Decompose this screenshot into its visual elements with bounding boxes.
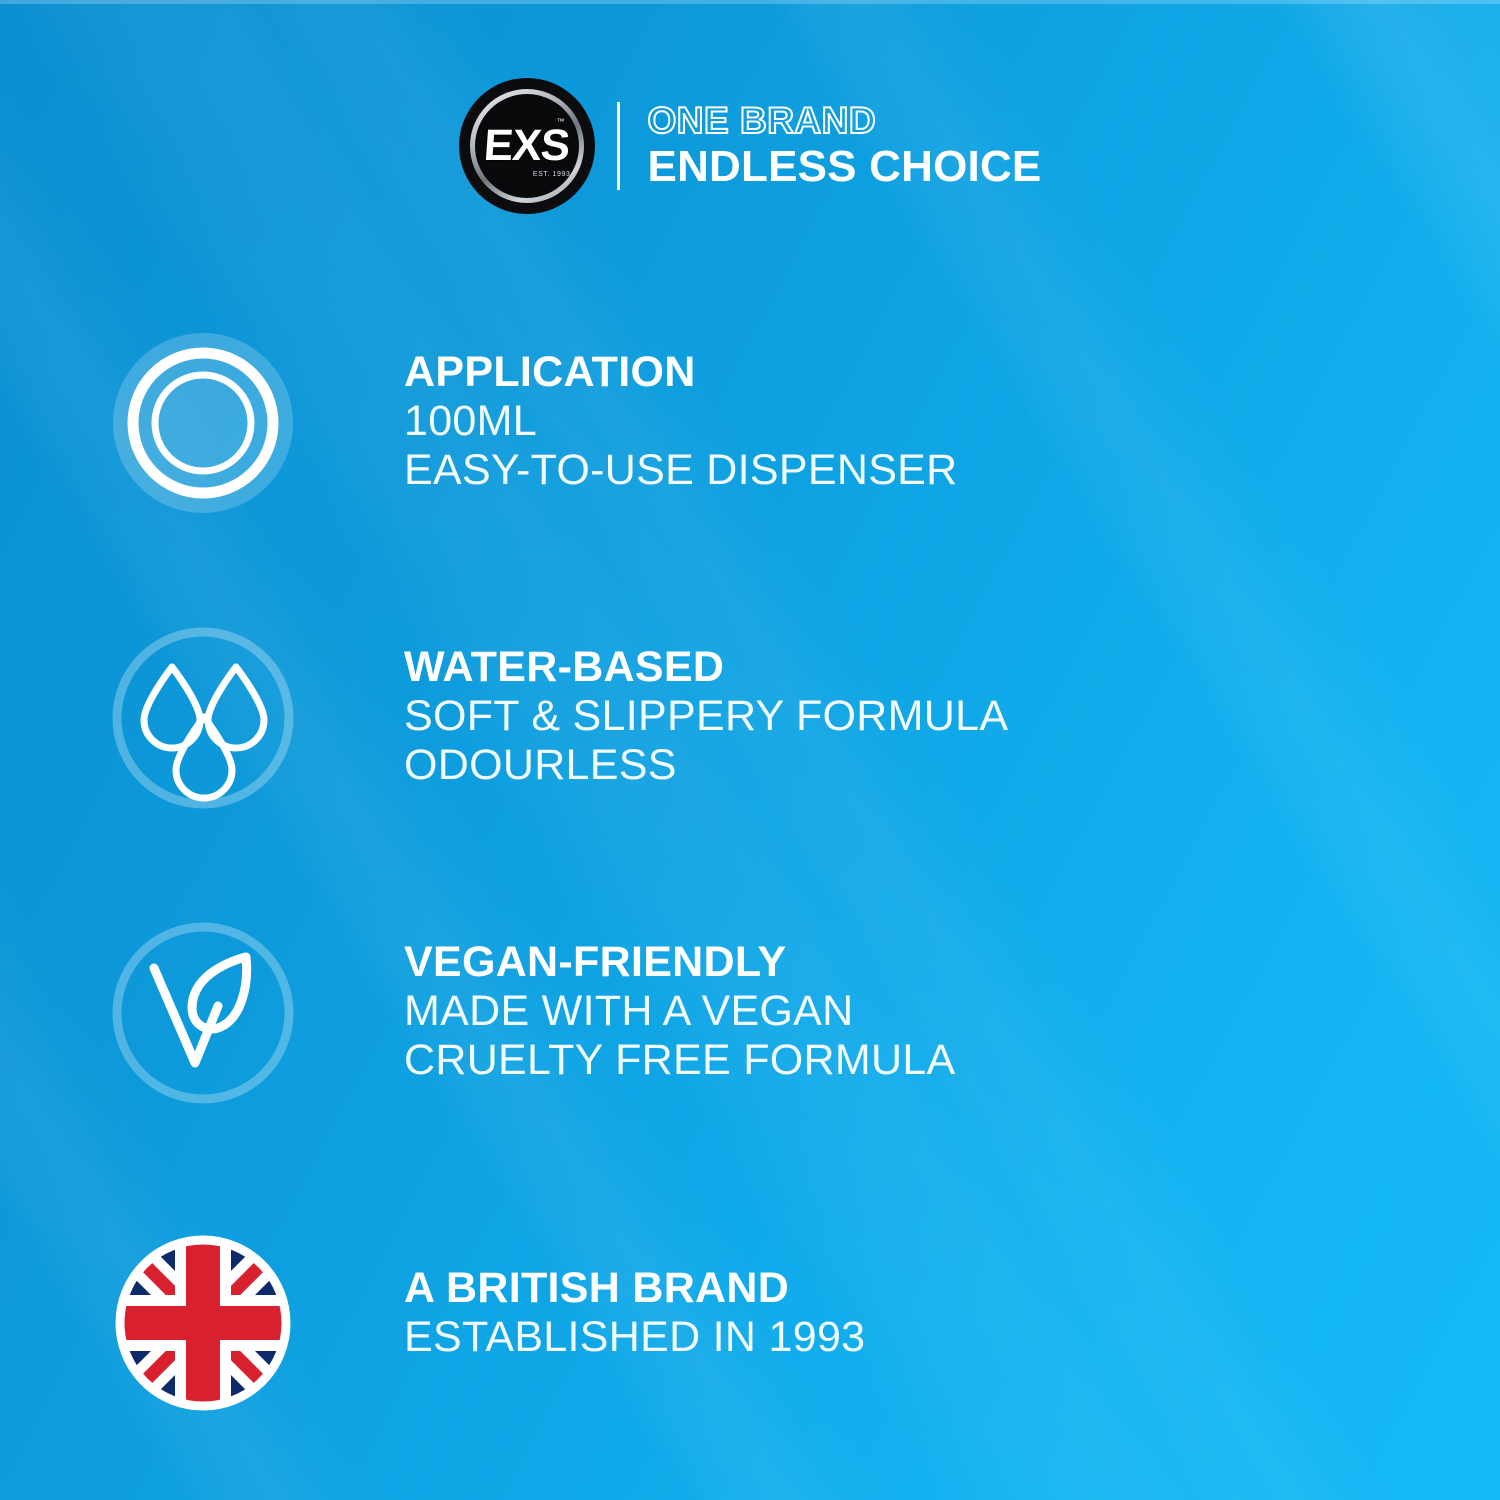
feature-text-vegan-friendly: VEGAN-FRIENDLY MADE WITH A VEGAN CRUELTY… xyxy=(404,920,956,1085)
feature-title: A BRITISH BRAND xyxy=(404,1264,865,1313)
feature-line: ODOURLESS xyxy=(404,741,1008,790)
product-feature-infographic: EXS ™ EST. 1993 ONE BRAND ENDLESS CHOICE… xyxy=(0,0,1500,1500)
tagline-line-one: ONE BRAND xyxy=(648,102,1042,141)
feature-line: 100ML xyxy=(404,397,958,446)
top-edge-strip xyxy=(0,0,1500,4)
feature-row-application: APPLICATION 100ML EASY-TO-USE DISPENSER xyxy=(0,330,1500,516)
header-divider xyxy=(617,102,620,190)
feature-title: APPLICATION xyxy=(404,348,958,397)
logo-text-group: EXS xyxy=(459,78,595,214)
concentric-rings-icon xyxy=(110,330,296,516)
exs-logo-badge: EXS ™ EST. 1993 xyxy=(459,78,595,214)
feature-text-water-based: WATER-BASED SOFT & SLIPPERY FORMULA ODOU… xyxy=(404,625,1008,790)
feature-row-water-based: WATER-BASED SOFT & SLIPPERY FORMULA ODOU… xyxy=(0,625,1500,811)
feature-text-british-brand: A BRITISH BRAND ESTABLISHED IN 1993 xyxy=(404,1230,865,1362)
logo-established-text: EST. 1993 xyxy=(533,171,571,178)
water-drops-icon xyxy=(110,625,296,811)
feature-line: SOFT & SLIPPERY FORMULA xyxy=(404,692,1008,741)
brand-header: EXS ™ EST. 1993 ONE BRAND ENDLESS CHOICE xyxy=(0,78,1500,214)
feature-title: VEGAN-FRIENDLY xyxy=(404,938,956,987)
brand-tagline: ONE BRAND ENDLESS CHOICE xyxy=(648,102,1042,190)
feature-row-british-brand: A BRITISH BRAND ESTABLISHED IN 1993 xyxy=(0,1230,1500,1416)
logo-trademark-symbol: ™ xyxy=(557,118,565,126)
feature-line: ESTABLISHED IN 1993 xyxy=(404,1313,865,1362)
feature-line: EASY-TO-USE DISPENSER xyxy=(404,446,958,495)
feature-line: CRUELTY FREE FORMULA xyxy=(404,1036,956,1085)
feature-text-application: APPLICATION 100ML EASY-TO-USE DISPENSER xyxy=(404,330,958,495)
union-jack-flag-icon xyxy=(110,1230,296,1416)
feature-row-vegan-friendly: VEGAN-FRIENDLY MADE WITH A VEGAN CRUELTY… xyxy=(0,920,1500,1106)
logo-wordmark: EXS xyxy=(482,124,570,168)
feature-line: MADE WITH A VEGAN xyxy=(404,987,956,1036)
tagline-line-two: ENDLESS CHOICE xyxy=(648,144,1042,190)
feature-title: WATER-BASED xyxy=(404,643,1008,692)
vegan-leaf-icon xyxy=(110,920,296,1106)
